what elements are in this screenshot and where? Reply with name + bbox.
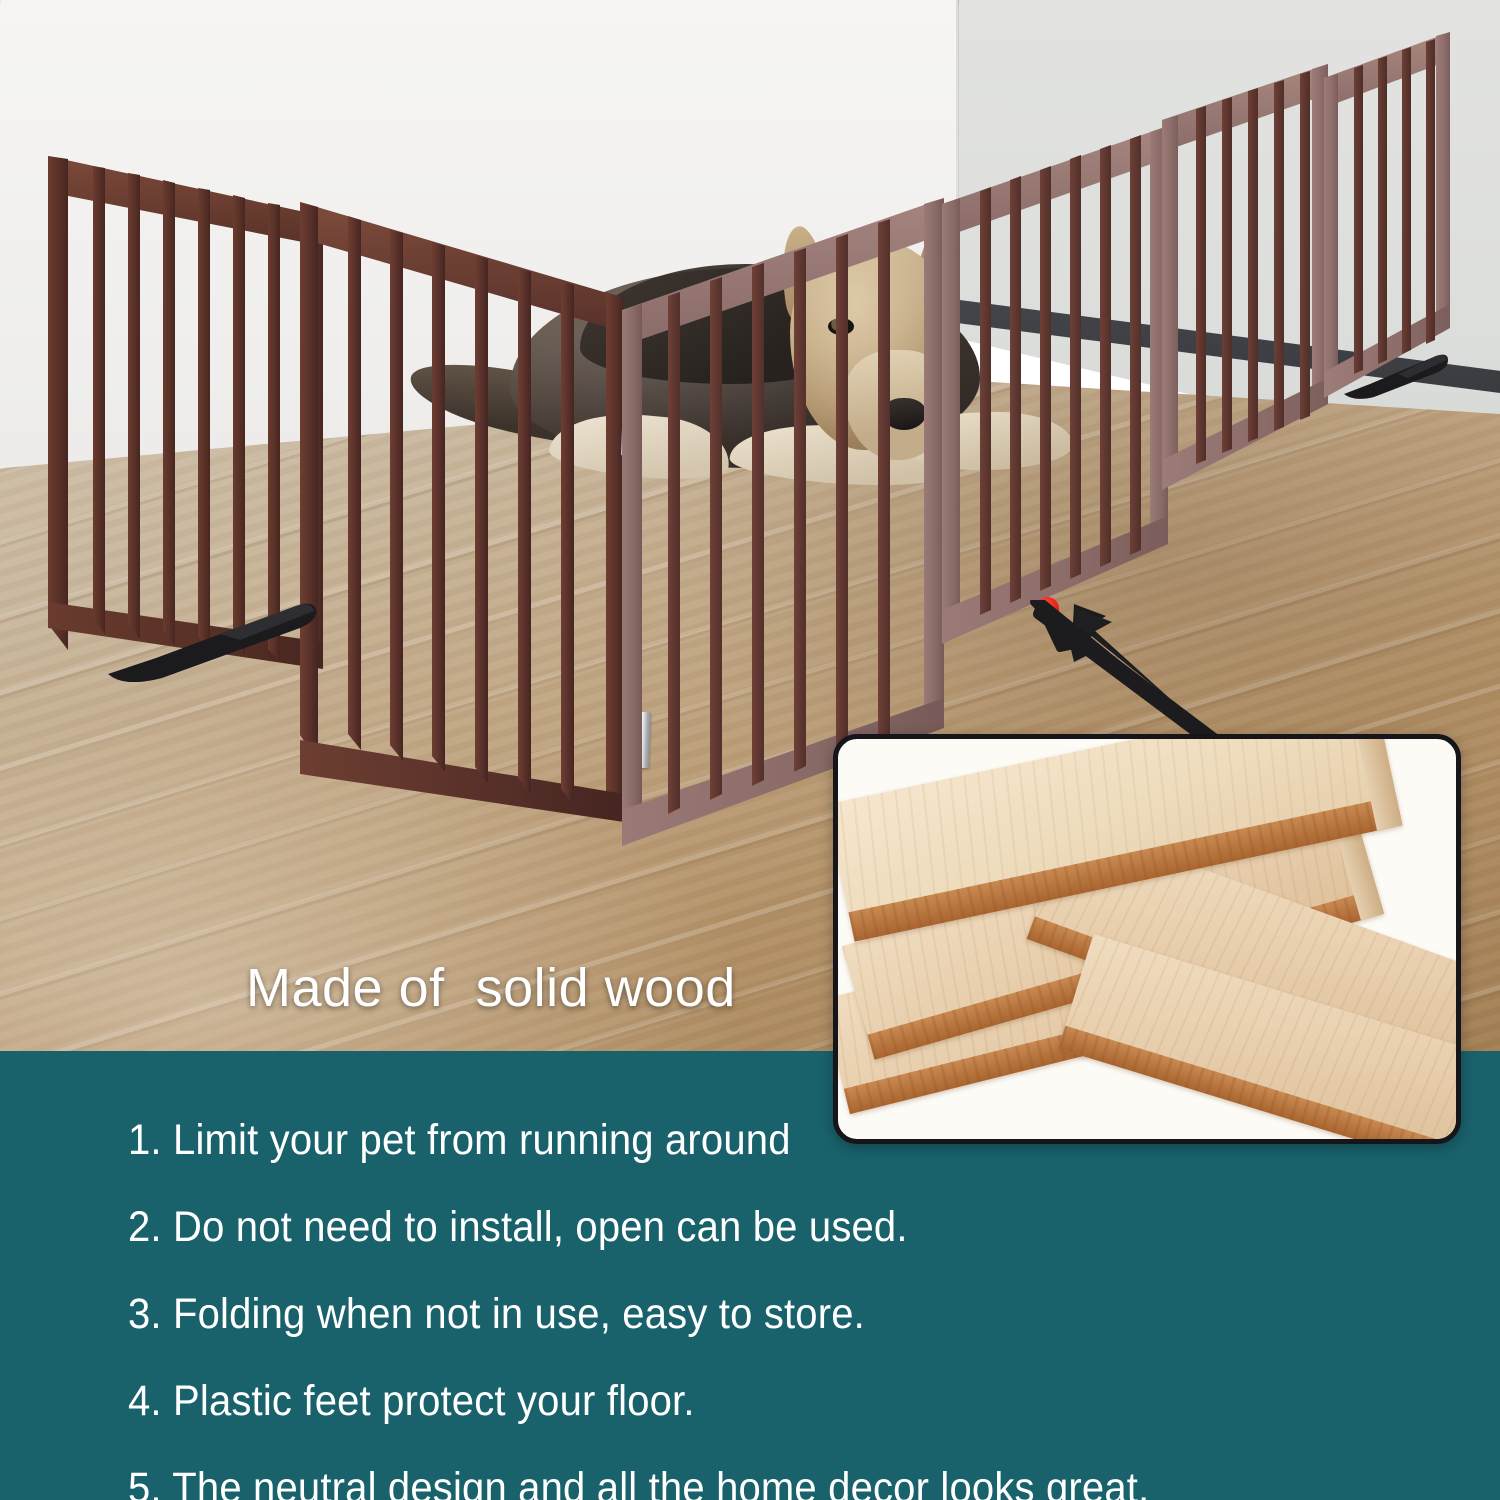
gate-panel-2 [300, 194, 630, 824]
gate-panel-4 [940, 92, 1170, 652]
features-list: 1. Limit your pet from running around 2.… [128, 1119, 1448, 1500]
feature-item-2: 2. Do not need to install, open can be u… [128, 1206, 1356, 1249]
feature-item-3: 3. Folding when not in use, easy to stor… [128, 1293, 1356, 1336]
plastic-foot-left [100, 592, 320, 682]
gate-panel-5 [1160, 30, 1330, 510]
feature-item-5: 5. The neutral design and all the home d… [128, 1467, 1356, 1500]
caption-made-of-solid-wood: Made of solid wood [246, 957, 736, 1019]
solid-wood-boards-inset [833, 734, 1461, 1144]
product-feature-image: Made of solid wood 1. Limit your pet fro… [0, 0, 1500, 1500]
plastic-foot-right [1340, 348, 1450, 400]
feature-item-4: 4. Plastic feet protect your floor. [128, 1380, 1356, 1423]
